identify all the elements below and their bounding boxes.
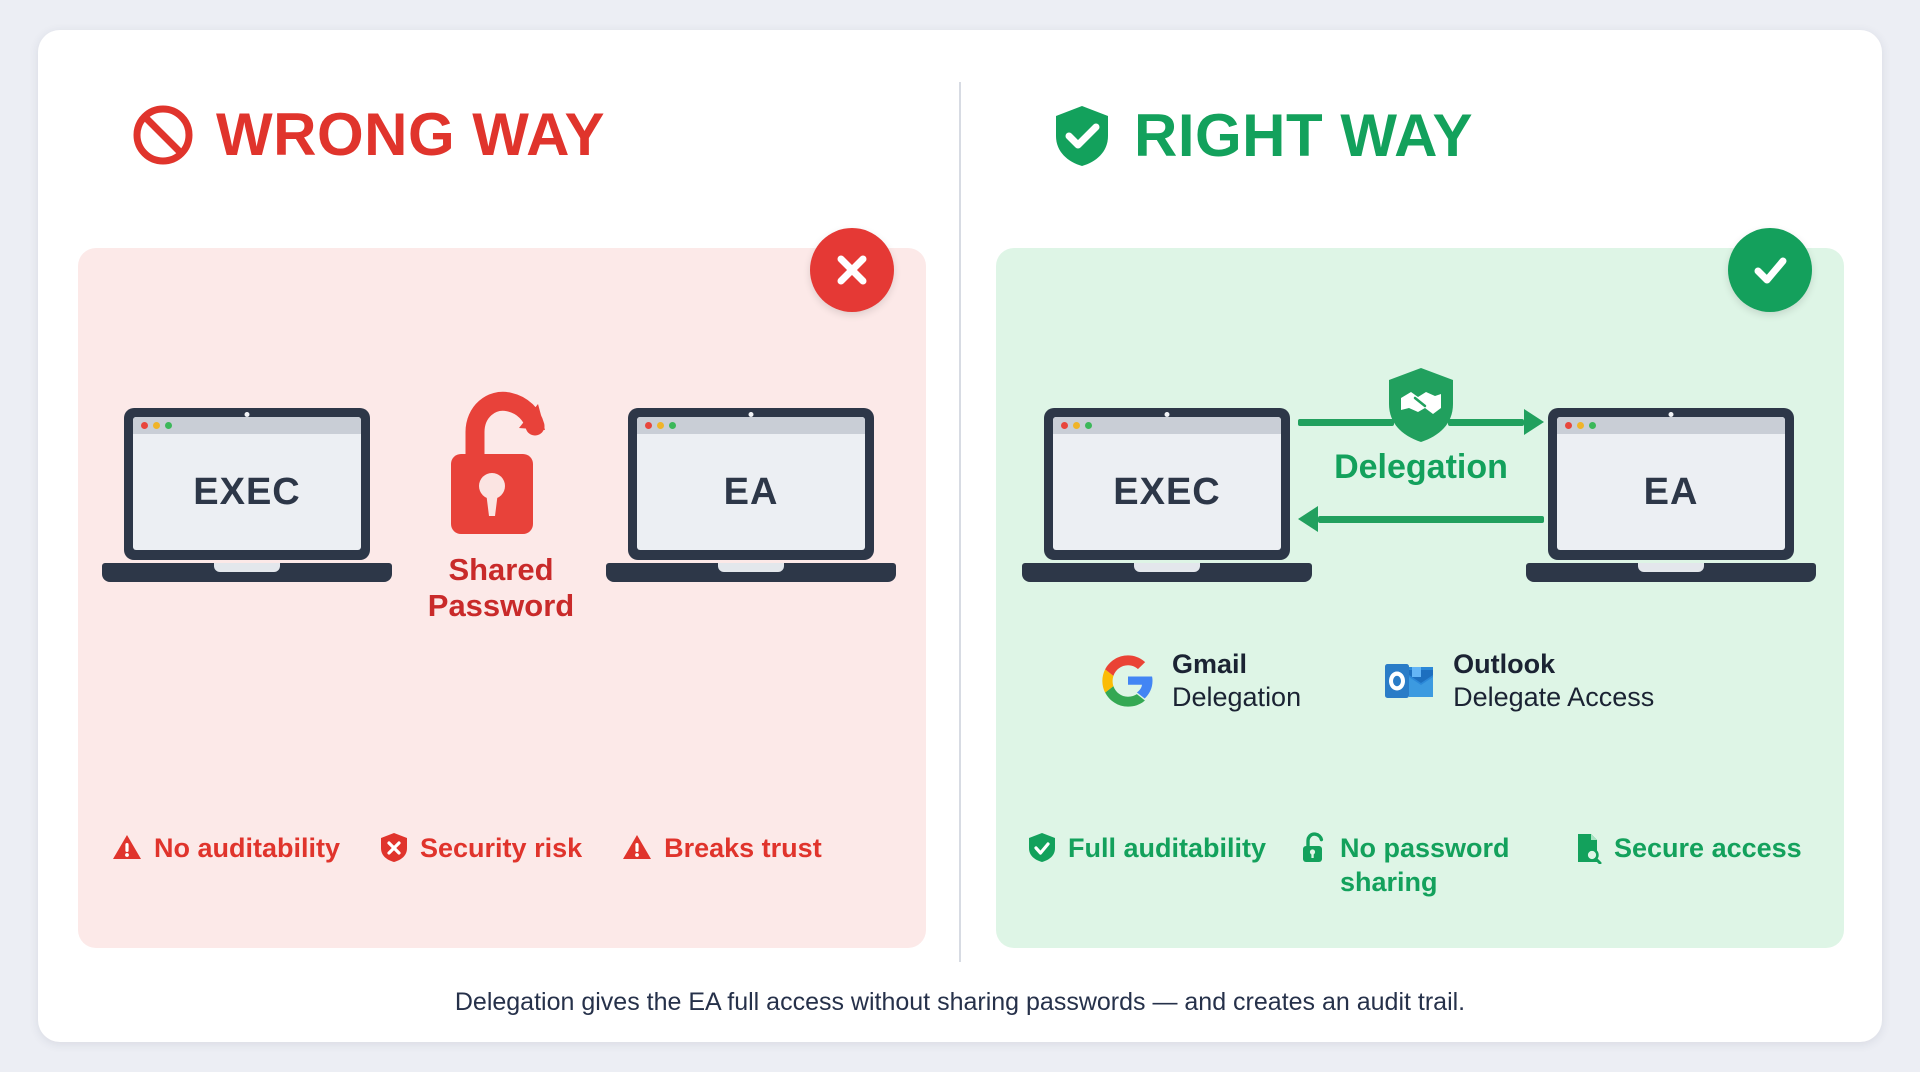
webcam-dot [1669,412,1674,417]
outlook-icon [1381,653,1437,709]
shield-handshake-icon [1385,366,1457,446]
service-subtitle: Delegation [1172,681,1301,714]
laptop-base [606,563,896,582]
laptop-ea-wrong: EA [628,408,874,582]
traffic-light-green-icon [165,422,172,429]
traffic-light-red-icon [645,422,652,429]
open-padlock-icon [439,388,563,538]
page-title-left: WRONG WAY [216,105,605,165]
traffic-light-green-icon [669,422,676,429]
feature-item: Breaks trust [622,832,822,866]
webcam-dot [1165,412,1170,417]
service-name: Gmail [1172,648,1301,681]
delegation-arrow-back [1298,497,1544,537]
wrong-way-heading: WRONG WAY [132,104,605,166]
panel-divider [959,82,961,962]
feature-item: Secure access [1574,832,1802,900]
traffic-light-red-icon [1565,422,1572,429]
feature-item: No password sharing [1300,832,1540,900]
feature-label: Secure access [1614,832,1802,866]
traffic-light-green-icon [1085,422,1092,429]
check-circle-icon [1728,228,1812,312]
browser-titlebar [133,417,361,434]
feature-label: Security risk [420,832,582,866]
traffic-light-yellow-icon [153,422,160,429]
warning-triangle-icon [112,832,142,862]
feature-item: Security risk [380,832,582,866]
traffic-light-yellow-icon [1073,422,1080,429]
laptop-base [1526,563,1816,582]
browser-titlebar [1053,417,1281,434]
feature-label: No auditability [154,832,340,866]
laptop-ea-right: EA [1548,408,1794,582]
browser-titlebar [1557,417,1785,434]
laptop-exec-wrong: EXEC [124,408,370,582]
laptop-label: EA [1644,471,1699,514]
laptop-base [1022,563,1312,582]
shared-password-group: Shared Password [406,388,596,623]
infographic-page: WRONG WAY RIGHT WAY [0,0,1920,1072]
document-search-icon [1574,832,1602,864]
webcam-dot [749,412,754,417]
wrong-way-feature-list: No auditability Security risk Breaks t [112,832,822,866]
traffic-light-green-icon [1589,422,1596,429]
unlock-icon [1300,832,1328,864]
google-g-icon [1100,653,1156,709]
x-circle-icon [810,228,894,312]
delegation-group: Delegation [1298,400,1544,537]
prohibition-icon [132,104,194,166]
feature-item: No auditability [112,832,340,866]
feature-item: Full auditability [1028,832,1266,900]
webcam-dot [245,412,250,417]
feature-label: Full auditability [1068,832,1266,866]
warning-triangle-icon [622,832,652,862]
right-way-feature-list: Full auditability No password sharing [1028,832,1802,900]
laptop-screen: EA [637,417,865,550]
footer-caption: Delegation gives the EA full access with… [0,988,1920,1017]
traffic-light-yellow-icon [1577,422,1584,429]
service-item-outlook: Outlook Delegate Access [1381,648,1654,714]
laptop-screen: EA [1557,417,1785,550]
service-list: Gmail Delegation Outlook Delegate Access [1100,648,1654,714]
shield-check-icon [1028,832,1056,863]
service-item-gmail: Gmail Delegation [1100,648,1301,714]
laptop-screen: EXEC [1053,417,1281,550]
right-way-heading: RIGHT WAY [1052,104,1473,168]
laptop-exec-right: EXEC [1044,408,1290,582]
laptop-base [102,563,392,582]
laptop-label: EXEC [1113,471,1220,514]
page-title-right: RIGHT WAY [1134,106,1473,166]
traffic-light-red-icon [141,422,148,429]
service-subtitle: Delegate Access [1453,681,1654,714]
feature-label: No password sharing [1340,832,1540,900]
traffic-light-yellow-icon [657,422,664,429]
service-name: Outlook [1453,648,1654,681]
shield-check-icon [1052,104,1112,168]
delegation-arrow-forward [1298,400,1544,440]
feature-label: Breaks trust [664,832,822,866]
traffic-light-red-icon [1061,422,1068,429]
laptop-label: EXEC [193,471,300,514]
laptop-label: EA [724,471,779,514]
delegation-label: Delegation [1334,448,1508,487]
shield-x-icon [380,832,408,863]
shared-password-label: Shared Password [428,552,574,623]
browser-titlebar [637,417,865,434]
laptop-screen: EXEC [133,417,361,550]
